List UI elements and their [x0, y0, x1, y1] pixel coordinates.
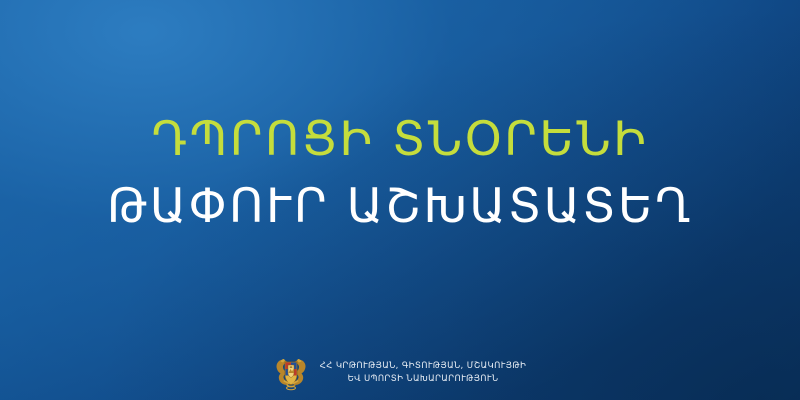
headline-line-1: ԴՊՐՈՑԻ ՏՆՕՐԵՆԻ [0, 116, 800, 163]
ministry-name: ՀՀ ԿՐԹՈՒԹՅԱՆ, ԳԻՏՈՒԹՅԱՆ, ՄՇԱԿՈՒՅԹԻ ԵՎ ՍՊ… [320, 361, 526, 384]
armenian-coat-of-arms-icon [274, 354, 308, 392]
ministry-name-line-1: ՀՀ ԿՐԹՈՒԹՅԱՆ, ԳԻՏՈՒԹՅԱՆ, ՄՇԱԿՈՒՅԹԻ [320, 361, 526, 372]
headline-block: ԴՊՐՈՑԻ ՏՆՕՐԵՆԻ ԹԱՓՈՒՐ ԱՇԽԱՏԱՏԵՂ [0, 116, 800, 230]
ministry-footer: ՀՀ ԿՐԹՈՒԹՅԱՆ, ԳԻՏՈՒԹՅԱՆ, ՄՇԱԿՈՒՅԹԻ ԵՎ ՍՊ… [0, 354, 800, 392]
headline-line-2: ԹԱՓՈՒՐ ԱՇԽԱՏԱՏԵՂ [0, 183, 800, 230]
announcement-banner: ԴՊՐՈՑԻ ՏՆՕՐԵՆԻ ԹԱՓՈՒՐ ԱՇԽԱՏԱՏԵՂ [0, 0, 800, 400]
ministry-name-line-2: ԵՎ ՍՊՈՐՏԻ ՆԱԽԱՐԱՐՈՒԹՅՈՒՆ [348, 374, 499, 385]
